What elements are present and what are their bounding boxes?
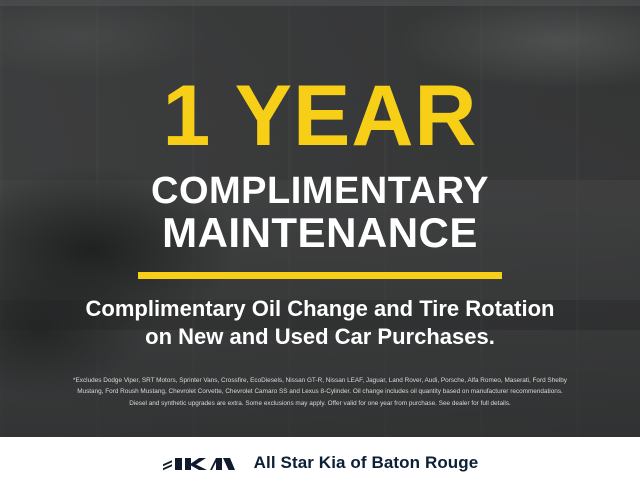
subheadline-line-1: Complimentary Oil Change and Tire Rotati… [20,295,620,323]
headline-tertiary: MAINTENANCE [162,212,478,255]
disclaimer-text: *Excludes Dodge Viper, SRT Motors, Sprin… [0,375,640,409]
headline-secondary: COMPLIMENTARY [151,172,489,211]
subheadline: Complimentary Oil Change and Tire Rotati… [20,295,620,351]
footer-bar: All Star Kia of Baton Rouge [0,437,640,488]
kia-logo-icon [162,451,236,475]
hero-content: 1 YEAR COMPLIMENTARY MAINTENANCE Complim… [0,0,640,437]
hero-section: 1 YEAR COMPLIMENTARY MAINTENANCE Complim… [0,0,640,437]
promo-banner: 1 YEAR COMPLIMENTARY MAINTENANCE Complim… [0,0,640,488]
subheadline-line-2: on New and Used Car Purchases. [20,323,620,351]
accent-divider [138,272,502,279]
disclaimer-line-3: Diesel and synthetic upgrades are extra.… [12,398,628,409]
dealer-name: All Star Kia of Baton Rouge [254,453,479,473]
headline-primary: 1 YEAR [162,76,477,158]
disclaimer-line-1: *Excludes Dodge Viper, SRT Motors, Sprin… [12,375,628,386]
disclaimer-line-2: Mustang, Ford Roush Mustang, Chevrolet C… [12,386,628,397]
